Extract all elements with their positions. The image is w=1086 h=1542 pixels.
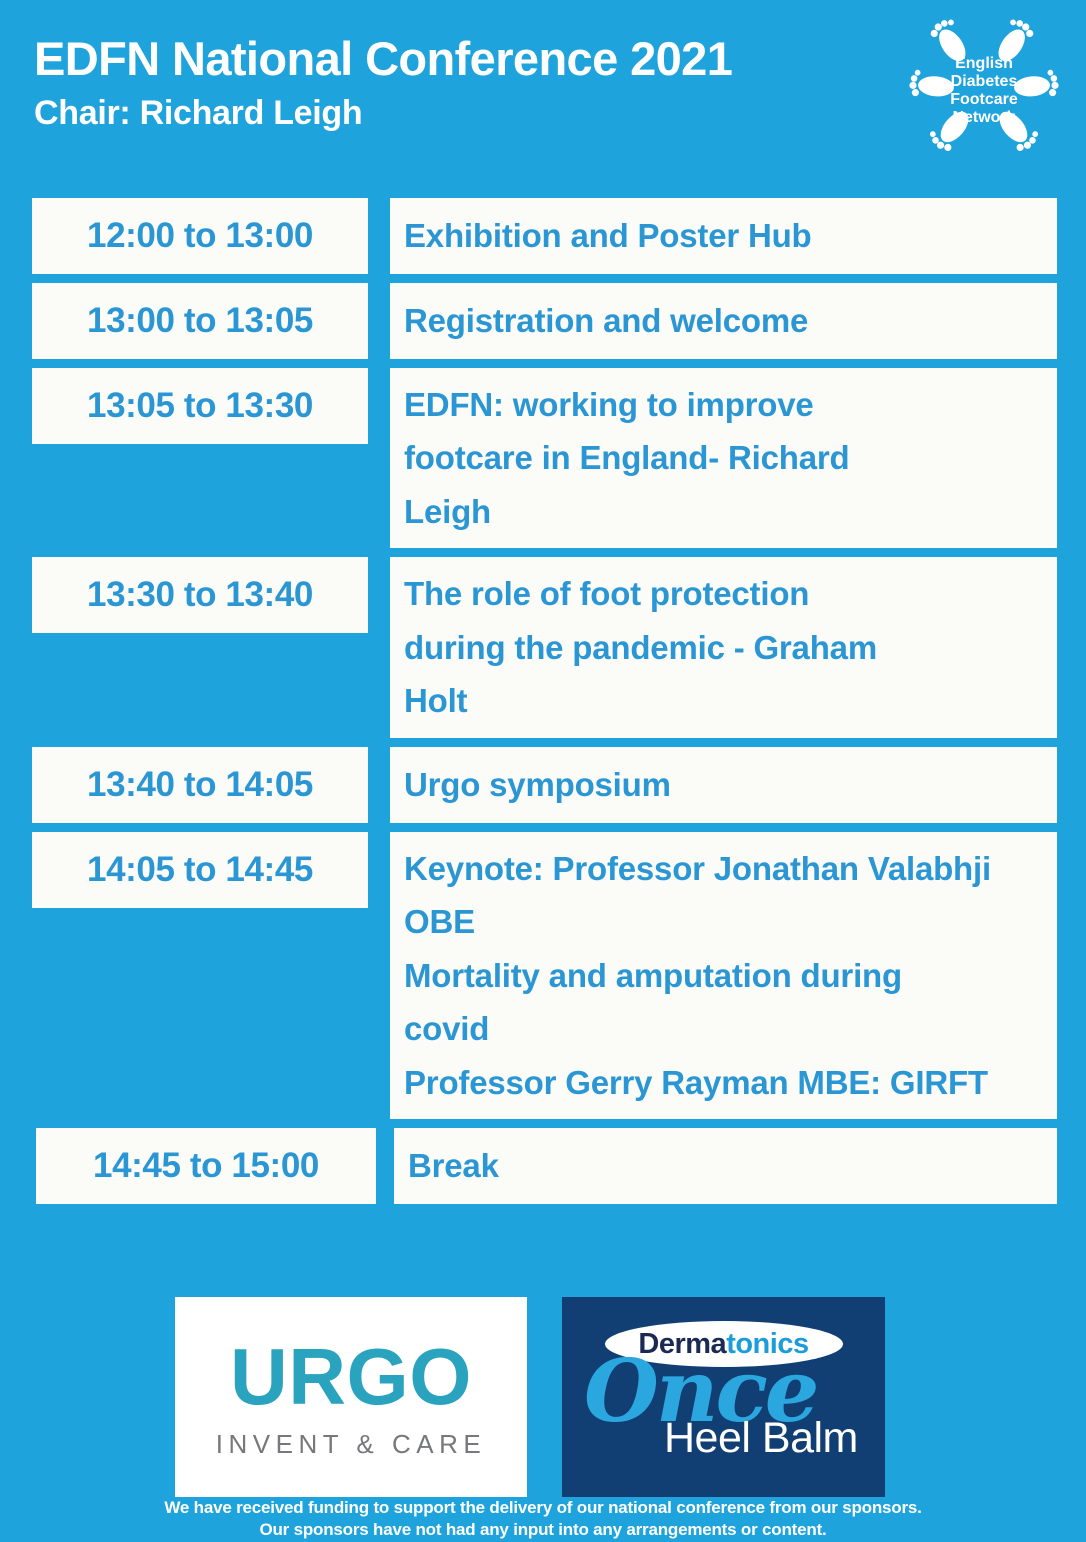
sponsor-urgo-logo: URGO INVENT & CARE	[175, 1297, 527, 1497]
schedule-session-line: covid	[404, 1002, 1057, 1055]
schedule-session-cell: EDFN: working to improvefootcare in Engl…	[390, 368, 1057, 548]
schedule-row: 13:05 to 13:30EDFN: working to improvefo…	[0, 368, 1086, 548]
schedule-session-cell: Exhibition and Poster Hub	[390, 198, 1057, 274]
schedule-session-cell: The role of foot protectionduring the pa…	[390, 557, 1057, 737]
schedule-session-line: Exhibition and Poster Hub	[404, 209, 1057, 262]
logo-line-3: Footcare	[950, 91, 1018, 108]
schedule-time-label: 12:00 to 13:00	[87, 216, 313, 256]
schedule-time-label: 14:05 to 14:45	[87, 850, 313, 890]
schedule-session-line: Urgo symposium	[404, 758, 1057, 811]
schedule-time-cell: 13:00 to 13:05	[32, 283, 368, 359]
schedule-session-line: during the pandemic - Graham	[404, 621, 1057, 674]
schedule-row: 13:00 to 13:05Registration and welcome	[0, 283, 1086, 359]
schedule-time-label: 13:00 to 13:05	[87, 301, 313, 341]
schedule-row: 13:40 to 14:05Urgo symposium	[0, 747, 1086, 823]
schedule-row: 12:00 to 13:00Exhibition and Poster Hub	[0, 198, 1086, 274]
title-block: EDFN National Conference 2021 Chair: Ric…	[34, 34, 894, 133]
sponsor-logos: URGO INVENT & CARE Dermatonics Once Heel…	[0, 1297, 1086, 1497]
edfn-footprint-circle-icon: English Diabetes Footcare Network	[906, 6, 1062, 166]
schedule-session-line: Registration and welcome	[404, 294, 1057, 347]
dermatonics-product-subtitle: Heel Balm	[664, 1417, 858, 1460]
schedule-session-line: EDFN: working to improve	[404, 378, 1057, 431]
logo-line-4: Network	[952, 109, 1015, 126]
schedule-time-label: 13:30 to 13:40	[87, 575, 313, 615]
schedule-row: 14:45 to 15:00Break	[0, 1128, 1086, 1204]
schedule-time-cell: 14:05 to 14:45	[32, 832, 368, 908]
urgo-tagline: INVENT & CARE	[216, 1431, 486, 1457]
schedule-session-cell: Break	[394, 1128, 1057, 1204]
disclaimer-line-2: Our sponsors have not had any input into…	[0, 1519, 1086, 1541]
schedule-session-line: footcare in England- Richard	[404, 431, 1057, 484]
schedule-time-cell: 13:05 to 13:30	[32, 368, 368, 444]
logo-line-2: Diabetes	[951, 73, 1018, 90]
schedule-row: 13:30 to 13:40The role of foot protectio…	[0, 557, 1086, 737]
logo-line-1: English	[955, 55, 1013, 72]
schedule-time-label: 14:45 to 15:00	[93, 1146, 319, 1186]
schedule-session-line: Professor Gerry Rayman MBE: GIRFT	[404, 1056, 1057, 1109]
schedule-session-cell: Registration and welcome	[390, 283, 1057, 359]
schedule-session-cell: Keynote: Professor Jonathan ValabhjiOBEM…	[390, 832, 1057, 1119]
schedule-time-label: 13:05 to 13:30	[87, 386, 313, 426]
schedule-session-line: Leigh	[404, 485, 1057, 538]
schedule-time-label: 13:40 to 14:05	[87, 765, 313, 805]
schedule-row: 14:05 to 14:45Keynote: Professor Jonatha…	[0, 832, 1086, 1119]
chair-subtitle: Chair: Richard Leigh	[34, 94, 894, 133]
schedule-session-line: OBE	[404, 895, 1057, 948]
disclaimer-line-1: We have received funding to support the …	[0, 1497, 1086, 1519]
funding-disclaimer: We have received funding to support the …	[0, 1497, 1086, 1542]
schedule-time-cell: 13:30 to 13:40	[32, 557, 368, 633]
schedule-session-line: Break	[408, 1139, 1057, 1192]
schedule-session-line: Holt	[404, 674, 1057, 727]
schedule-time-cell: 12:00 to 13:00	[32, 198, 368, 274]
schedule-session-line: The role of foot protection	[404, 567, 1057, 620]
poster-header: EDFN National Conference 2021 Chair: Ric…	[0, 0, 1086, 190]
urgo-wordmark: URGO	[230, 1337, 472, 1417]
schedule-table: 12:00 to 13:00Exhibition and Poster Hub1…	[0, 198, 1086, 1213]
schedule-time-cell: 13:40 to 14:05	[32, 747, 368, 823]
schedule-session-line: Keynote: Professor Jonathan Valabhji	[404, 842, 1057, 895]
schedule-session-line: Mortality and amputation during	[404, 949, 1057, 1002]
schedule-session-cell: Urgo symposium	[390, 747, 1057, 823]
sponsor-dermatonics-logo: Dermatonics Once Heel Balm	[562, 1297, 885, 1497]
page-title: EDFN National Conference 2021	[34, 34, 894, 85]
schedule-time-cell: 14:45 to 15:00	[36, 1128, 376, 1204]
